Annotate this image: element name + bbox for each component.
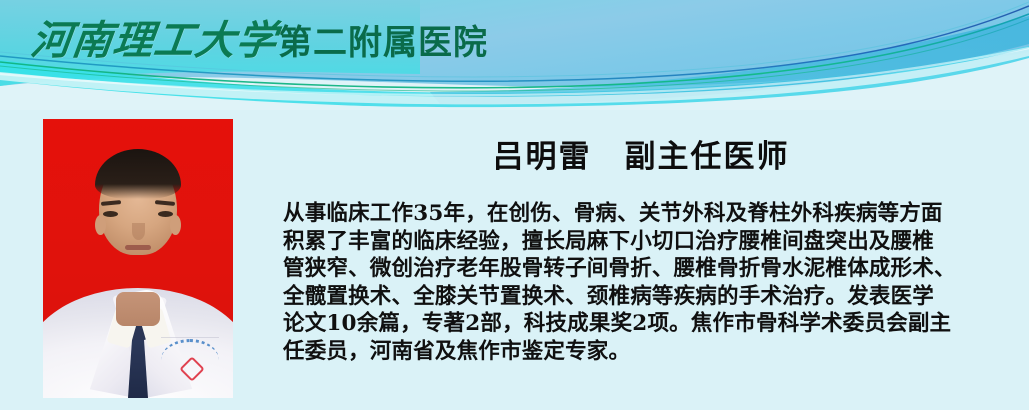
bio-line: 任委员，河南省及焦作市鉴定专家。 (283, 338, 1003, 366)
hospital-name: 河南理工大学 第二附属医院 (28, 8, 488, 56)
eye-right (158, 211, 173, 217)
doctor-biography: 从事临床工作35年，在创伤、骨病、关节外科及脊柱外科疾病等方面 积累了丰富的临床… (283, 200, 1003, 365)
doctor-name-title: 吕明雷 副主任医师 (283, 131, 999, 176)
mouth (125, 245, 151, 250)
poster-root: 河南理工大学 第二附属医院 吕明雷 副主任医师 从事临床工作35年，在创伤、骨病… (0, 0, 1029, 410)
ear-left (95, 215, 106, 235)
doctor-portrait-photo (43, 119, 233, 398)
bio-line: 论文10余篇，专著2部，科技成果奖2项。焦作市骨科学术委员会副主 (283, 310, 1003, 338)
hospital-name-regular: 第二附属医院 (278, 15, 488, 64)
bio-line: 全髋置换术、全膝关节置换术、颈椎病等疾病的手术治疗。发表医学 (283, 283, 1003, 311)
bio-line: 管狭窄、微创治疗老年股骨转子间骨折、腰椎骨折骨水泥椎体成形术、 (283, 255, 1003, 283)
bio-line: 从事临床工作35年，在创伤、骨病、关节外科及脊柱外科疾病等方面 (283, 200, 1003, 228)
hospital-name-cursive: 河南理工大学 (28, 8, 281, 66)
neck (116, 292, 160, 326)
header-banner: 河南理工大学 第二附属医院 (0, 0, 1029, 110)
eye-left (103, 211, 118, 217)
ear-right (170, 215, 181, 235)
nose (132, 223, 145, 240)
bio-line: 积累了丰富的临床经验，擅长局麻下小切口治疗腰椎间盘突出及腰椎 (283, 228, 1003, 256)
